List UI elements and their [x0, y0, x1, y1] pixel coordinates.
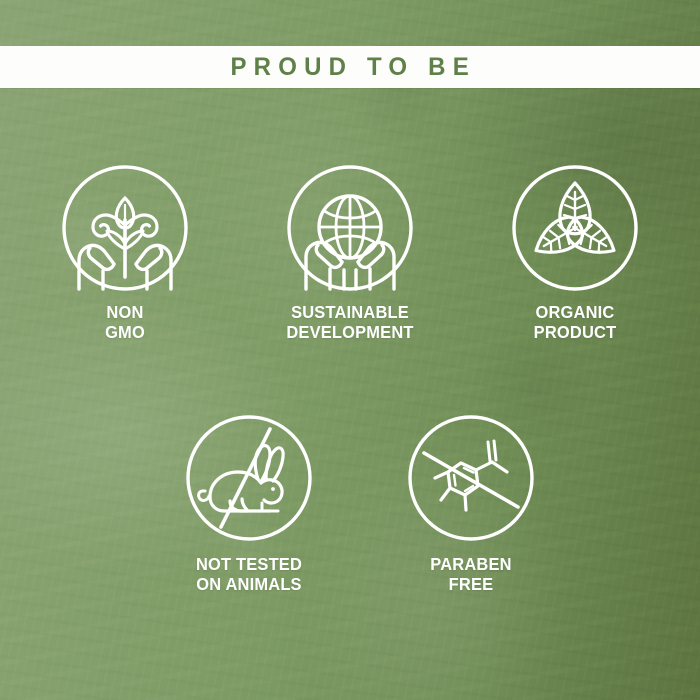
- badge-label: NOT TESTED ON ANIMALS: [160, 554, 339, 594]
- trefoil-leaves-icon: [512, 165, 638, 291]
- badge-sustainable-development[interactable]: SUSTAINABLE DEVELOPMENT: [255, 165, 445, 342]
- badge-label: ORGANIC PRODUCT: [486, 302, 665, 342]
- proud-to-be-poster: PROUD TO BE: [0, 0, 700, 700]
- badge-non-gmo[interactable]: NON GMO: [30, 165, 220, 342]
- badge-label: NON GMO: [36, 302, 215, 342]
- badge-not-tested-on-animals[interactable]: NOT TESTED ON ANIMALS: [154, 415, 344, 594]
- hands-holding-plant-icon: [62, 165, 188, 291]
- page-title: PROUD TO BE: [224, 53, 477, 82]
- badge-label: PARABEN FREE: [382, 554, 561, 594]
- crossed-out-molecule-icon: [408, 415, 534, 541]
- header-band: PROUD TO BE: [0, 46, 700, 88]
- badge-organic-product[interactable]: ORGANIC PRODUCT: [480, 165, 670, 342]
- badge-grid: NON GMO: [0, 0, 700, 700]
- hands-holding-globe-icon: [287, 165, 413, 291]
- badge-label: SUSTAINABLE DEVELOPMENT: [261, 302, 440, 342]
- badge-paraben-free[interactable]: PARABEN FREE: [376, 415, 566, 594]
- crossed-out-rabbit-icon: [186, 415, 312, 541]
